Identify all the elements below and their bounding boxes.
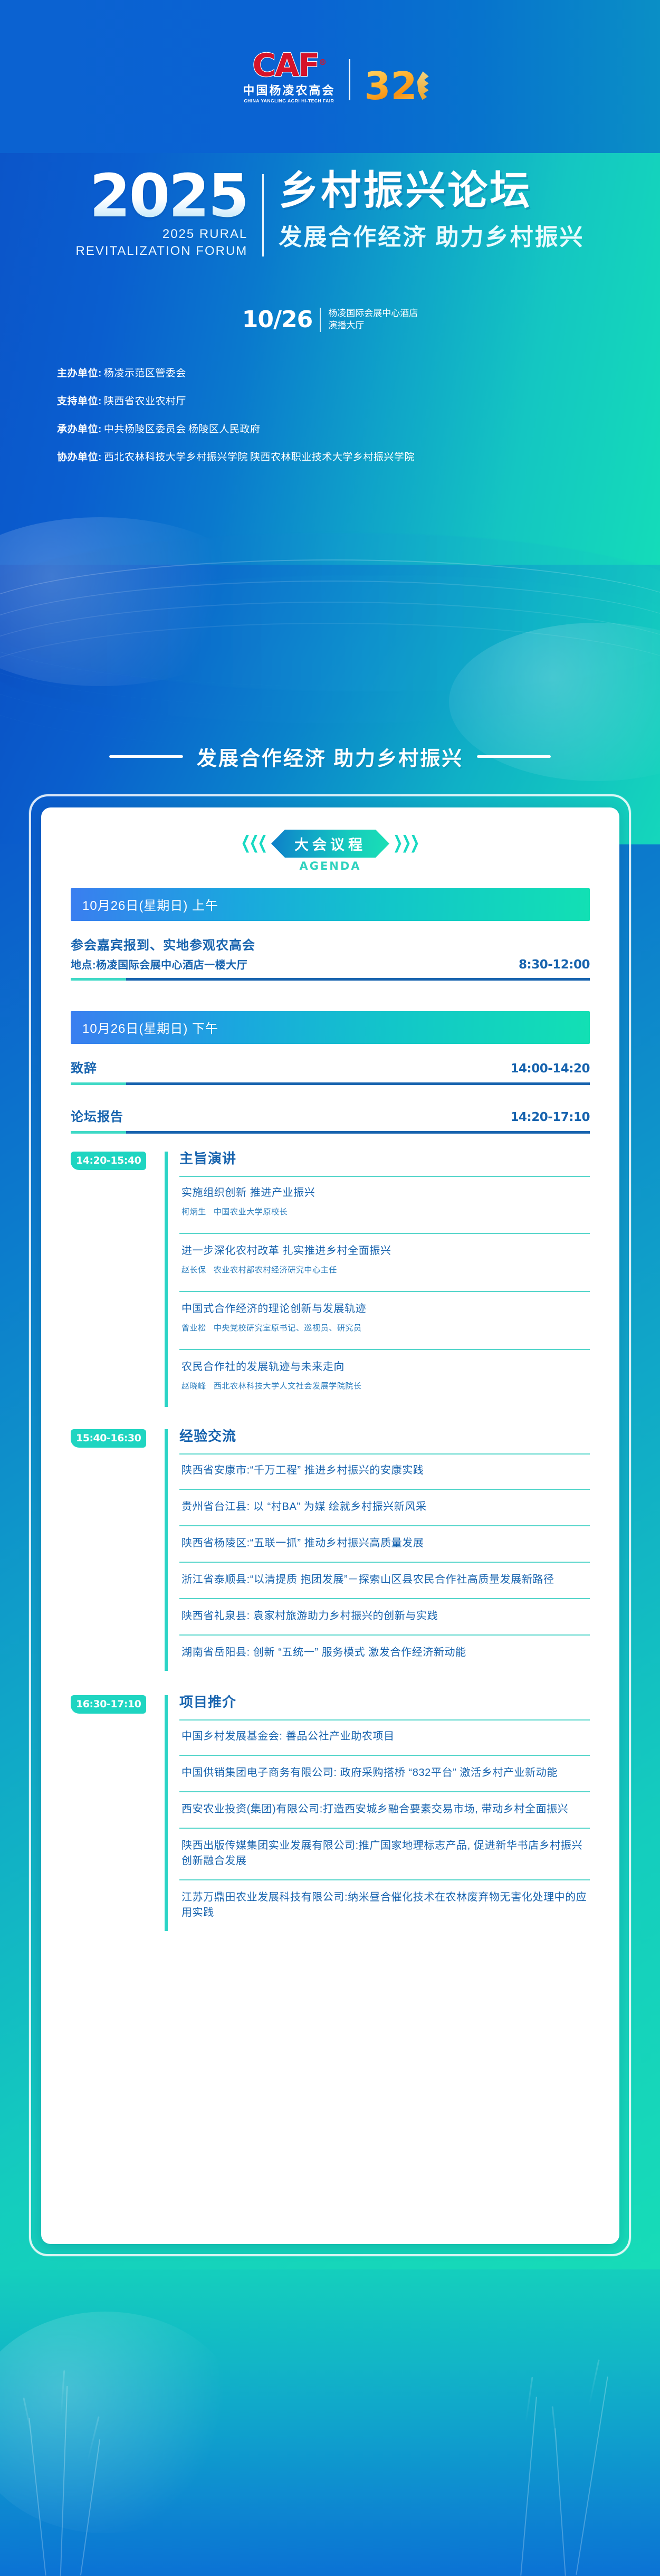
footer-wheat-right-icon: [496, 2354, 655, 2576]
heading-rule-left: [109, 755, 183, 758]
organizer-row: 支持单位: 陕西省农业农村厅: [57, 393, 621, 407]
organizer-value: 西北农林科技大学乡村振兴学院: [104, 449, 248, 463]
chevron-right-icon: [395, 835, 418, 853]
session-accent-bar: [165, 1429, 168, 1671]
speech-rule: [71, 1082, 590, 1085]
report-rule: [71, 1131, 590, 1134]
agenda-item-title: 中国乡村发展基金会: 善品公社产业助农项目: [181, 1729, 588, 1744]
logo-row: CAF® 中国杨凌农高会 CHINA YANGLING AGRI HI-TECH…: [0, 51, 660, 103]
session-title: 经验交流: [179, 1429, 590, 1443]
caf-logo: CAF® 中国杨凌农高会 CHINA YANGLING AGRI HI-TECH…: [243, 51, 335, 103]
organizer-label: 支持单位:: [57, 393, 102, 407]
date-venue-divider: [320, 308, 321, 332]
agenda-item: 陕西省杨陵区:“五联一抓” 推动乡村振兴高质量发展: [179, 1525, 590, 1562]
organizer-value: 陕西省农业农村厅: [104, 393, 186, 407]
speaker-name: 曾业松: [181, 1324, 206, 1333]
agenda-item-title: 贵州省台江县: 以 “村BA” 为媒 绘就乡村振兴新风采: [181, 1499, 588, 1515]
organizer-value: 杨凌示范区管委会: [104, 365, 186, 379]
agenda-item: 陕西出版传媒集团实业发展有限公司:推广国家地理标志产品, 促进新华书店乡村振兴创…: [179, 1828, 590, 1879]
agenda-item-speaker: 柯炳生中国农业大学原校长: [181, 1206, 588, 1217]
daybar-afternoon: 10月26日(星期日) 下午: [71, 1011, 590, 1044]
report-block: 论坛报告 14:20-17:10: [71, 1106, 590, 1134]
hero-main: 2025 2025 RURAL REVITALIZATION FORUM 乡村振…: [0, 168, 660, 260]
agenda-item-speaker: 赵晓峰西北农林科技大学人文社会发展学院院长: [181, 1380, 588, 1391]
speaker-affiliation: 西北农林科技大学人文社会发展学院院长: [214, 1382, 362, 1391]
session-content: 主旨演讲 实施组织创新 推进产业振兴 柯炳生中国农业大学原校长 进一步深化农村改…: [179, 1152, 590, 1407]
session-keynote: 14:20-15:40 主旨演讲 实施组织创新 推进产业振兴 柯炳生中国农业大学…: [71, 1152, 590, 1407]
agenda-card: 大会议程 AGENDA 10月26日(星期日) 上午 参会嘉宾报到、实地参观农高…: [41, 807, 619, 2244]
session-accent-bar: [165, 1695, 168, 1931]
agenda-item: 进一步深化农村改革 扎实推进乡村全面振兴 赵长保农业农村部农村经济研究中心主任: [179, 1233, 590, 1291]
agenda-item: 贵州省台江县: 以 “村BA” 为媒 绘就乡村振兴新风采: [179, 1489, 590, 1525]
agenda-item-title: 湖南省岳阳县: 创新 “五统一” 服务模式 激发合作经济新动能: [181, 1645, 588, 1660]
speaker-affiliation: 农业农村部农村经济研究中心主任: [214, 1266, 337, 1275]
session-time-badge: 16:30-17:10: [71, 1695, 146, 1714]
morning-time: 8:30-12:00: [519, 958, 590, 972]
edition-number-text: 32: [364, 64, 417, 108]
agenda-item: 中国供销集团电子商务有限公司: 政府采购搭桥 “832平台” 激活乡村产业新动能: [179, 1755, 590, 1791]
morning-block: 参会嘉宾报到、实地参观农高会 地点:杨凌国际会展中心酒店一楼大厅 8:30-12…: [71, 935, 590, 981]
agenda-item: 西安农业投资(集团)有限公司:打造西安城乡融合要素交易市场, 带动乡村全面振兴: [179, 1791, 590, 1828]
agenda-item-title: 中国式合作经济的理论创新与发展轨迹: [181, 1301, 588, 1317]
agenda-item-title: 进一步深化农村改革 扎实推进乡村全面振兴: [181, 1243, 588, 1259]
footer-wheat-left-icon: [16, 2354, 174, 2576]
section-heading: 发展合作经济 助力乡村振兴: [0, 742, 660, 771]
morning-title: 参会嘉宾报到、实地参观农高会: [71, 935, 255, 953]
agenda-item: 中国乡村发展基金会: 善品公社产业助农项目: [179, 1719, 590, 1755]
agenda-item: 江苏万鼎田农业发展科技有限公司:纳米昼合催化技术在农林废弃物无害化处理中的应用实…: [179, 1879, 590, 1931]
date-venue-bar: 10/26 杨凌国际会展中心酒店 演播大厅: [0, 306, 660, 333]
session-content: 项目推介 中国乡村发展基金会: 善品公社产业助农项目 中国供销集团电子商务有限公…: [179, 1695, 590, 1931]
session-time-col: 15:40-16:30: [71, 1429, 165, 1671]
venue-line-2: 演播大厅: [328, 320, 418, 331]
speech-block: 致辞 14:00-14:20: [71, 1058, 590, 1085]
agenda-item-title: 陕西省安康市:“千万工程” 推进乡村振兴的安康实践: [181, 1463, 588, 1478]
session-experience: 15:40-16:30 经验交流 陕西省安康市:“千万工程” 推进乡村振兴的安康…: [71, 1429, 590, 1671]
agenda-item: 农民合作社的发展轨迹与未来走向 赵晓峰西北农林科技大学人文社会发展学院院长: [179, 1349, 590, 1407]
agenda-item-title: 西安农业投资(集团)有限公司:打造西安城乡融合要素交易市场, 带动乡村全面振兴: [181, 1802, 588, 1817]
hero-title-block: 乡村振兴论坛 发展合作经济 助力乡村振兴: [279, 168, 584, 252]
chevron-left-icon: [242, 835, 266, 853]
agenda-badge: 大会议程 AGENDA: [71, 830, 590, 872]
organizer-row: 协办单位: 西北农林科技大学乡村振兴学院 陕西农林职业技术大学乡村振兴学院: [57, 449, 621, 463]
caf-wordmark-icon: CAF®: [253, 51, 326, 81]
speaker-name: 柯炳生: [181, 1208, 206, 1216]
agenda-item-title: 农民合作社的发展轨迹与未来走向: [181, 1360, 588, 1375]
report-time: 14:20-17:10: [511, 1110, 590, 1124]
session-items: 陕西省安康市:“千万工程” 推进乡村振兴的安康实践 贵州省台江县: 以 “村BA…: [179, 1453, 590, 1671]
agenda-item-title: 陕西省礼泉县: 袁家村旅游助力乡村振兴的创新与实践: [181, 1609, 588, 1624]
agenda-item-speaker: 曾业松中央党校研究室原书记、巡视员、研究员: [181, 1322, 588, 1333]
organizer-label: 协办单位:: [57, 449, 102, 463]
section-heading-text: 发展合作经济 助力乡村振兴: [197, 742, 464, 771]
report-title: 论坛报告: [71, 1106, 123, 1125]
agenda-item: 陕西省礼泉县: 袁家村旅游助力乡村振兴的创新与实践: [179, 1598, 590, 1634]
hero-block: 2025 2025 RURAL REVITALIZATION FORUM 乡村振…: [0, 168, 660, 260]
speaker-name: 赵晓峰: [181, 1382, 206, 1391]
agenda-item-speaker: 赵长保农业农村部农村经济研究中心主任: [181, 1264, 588, 1275]
organizer-label: 承办单位:: [57, 421, 102, 435]
agenda-badge-english: AGENDA: [299, 860, 361, 872]
speech-time: 14:00-14:20: [511, 1062, 590, 1076]
speaker-affiliation: 中央党校研究室原书记、巡视员、研究员: [214, 1324, 362, 1333]
organizer-row: 承办单位: 中共杨陵区委员会 杨陵区人民政府: [57, 421, 621, 435]
agenda-item: 湖南省岳阳县: 创新 “五统一” 服务模式 激发合作经济新动能: [179, 1634, 590, 1671]
agenda-item-title: 实施组织创新 推进产业振兴: [181, 1185, 588, 1201]
agenda-item: 陕西省安康市:“千万工程” 推进乡村振兴的安康实践: [179, 1453, 590, 1489]
speaker-affiliation: 中国农业大学原校长: [214, 1208, 288, 1216]
forum-subtitle: 发展合作经济 助力乡村振兴: [279, 218, 584, 252]
event-date: 10/26: [242, 306, 313, 333]
hero-en-line2: REVITALIZATION FORUM: [75, 243, 247, 260]
agenda-item-title: 陕西省杨陵区:“五联一抓” 推动乡村振兴高质量发展: [181, 1536, 588, 1551]
heading-rule-right: [477, 755, 551, 758]
agenda-item-title: 陕西出版传媒集团实业发展有限公司:推广国家地理标志产品, 促进新华书店乡村振兴创…: [181, 1838, 588, 1869]
session-items: 实施组织创新 推进产业振兴 柯炳生中国农业大学原校长 进一步深化农村改革 扎实推…: [179, 1176, 590, 1407]
speech-title: 致辞: [71, 1058, 97, 1076]
session-content: 经验交流 陕西省安康市:“千万工程” 推进乡村振兴的安康实践 贵州省台江县: 以…: [179, 1429, 590, 1671]
registered-trademark-icon: ®: [319, 58, 326, 67]
venue-line-1: 杨凌国际会展中心酒店: [328, 308, 418, 319]
agenda-item: 实施组织创新 推进产业振兴 柯炳生中国农业大学原校长: [179, 1176, 590, 1233]
organizer-value-secondary: 杨陵区人民政府: [188, 421, 261, 435]
logo-divider: [349, 59, 350, 100]
caf-letters: CAF: [253, 47, 319, 84]
organizer-label: 主办单位:: [57, 365, 102, 379]
hero-year-block: 2025 2025 RURAL REVITALIZATION FORUM: [75, 168, 247, 260]
event-venue: 杨凌国际会展中心酒店 演播大厅: [328, 308, 418, 331]
hero-year-english: 2025 RURAL REVITALIZATION FORUM: [75, 226, 247, 259]
hero-year: 2025: [75, 171, 247, 222]
forum-title: 乡村振兴论坛: [279, 170, 584, 212]
speaker-name: 赵长保: [181, 1266, 206, 1275]
session-items: 中国乡村发展基金会: 善品公社产业助农项目 中国供销集团电子商务有限公司: 政府…: [179, 1719, 590, 1931]
agenda-item-title: 江苏万鼎田农业发展科技有限公司:纳米昼合催化技术在农林废弃物无害化处理中的应用实…: [181, 1890, 588, 1921]
session-title: 项目推介: [179, 1695, 590, 1709]
edition-number: 32: [364, 69, 417, 103]
poster-root: CAF® 中国杨凌农高会 CHINA YANGLING AGRI HI-TECH…: [0, 0, 660, 2576]
hero-divider: [262, 174, 264, 256]
organizers-list: 主办单位: 杨凌示范区管委会 支持单位: 陕西省农业农村厅 承办单位: 中共杨陵…: [57, 365, 621, 477]
session-accent-bar: [165, 1152, 168, 1407]
session-time-col: 16:30-17:10: [71, 1695, 165, 1931]
organizer-row: 主办单位: 杨凌示范区管委会: [57, 365, 621, 379]
agenda-item: 中国式合作经济的理论创新与发展轨迹 曾业松中央党校研究室原书记、巡视员、研究员: [179, 1291, 590, 1349]
morning-rule: [71, 978, 590, 981]
caf-english-name: CHINA YANGLING AGRI HI-TECH FAIR: [244, 98, 334, 103]
session-time-col: 14:20-15:40: [71, 1152, 165, 1407]
organizer-value: 中共杨陵区委员会: [104, 421, 186, 435]
daybar-morning: 10月26日(星期日) 上午: [71, 888, 590, 921]
agenda-badge-label: 大会议程: [271, 830, 389, 858]
session-time-badge: 14:20-15:40: [71, 1152, 146, 1170]
organizer-value-secondary: 陕西农林职业技术大学乡村振兴学院: [250, 449, 415, 463]
session-title: 主旨演讲: [179, 1152, 590, 1165]
agenda-item: 浙江省泰顺县:“以清提质 抱团发展”－探索山区县农民合作社高质量发展新路径: [179, 1562, 590, 1598]
wheat-icon: [417, 71, 429, 100]
morning-location: 地点:杨凌国际会展中心酒店一楼大厅: [71, 956, 247, 972]
session-time-badge: 15:40-16:30: [71, 1429, 146, 1448]
session-projects: 16:30-17:10 项目推介 中国乡村发展基金会: 善品公社产业助农项目 中…: [71, 1695, 590, 1931]
agenda-item-title: 中国供销集团电子商务有限公司: 政府采购搭桥 “832平台” 激活乡村产业新动能: [181, 1765, 588, 1781]
agenda-item-title: 浙江省泰顺县:“以清提质 抱团发展”－探索山区县农民合作社高质量发展新路径: [181, 1572, 588, 1588]
